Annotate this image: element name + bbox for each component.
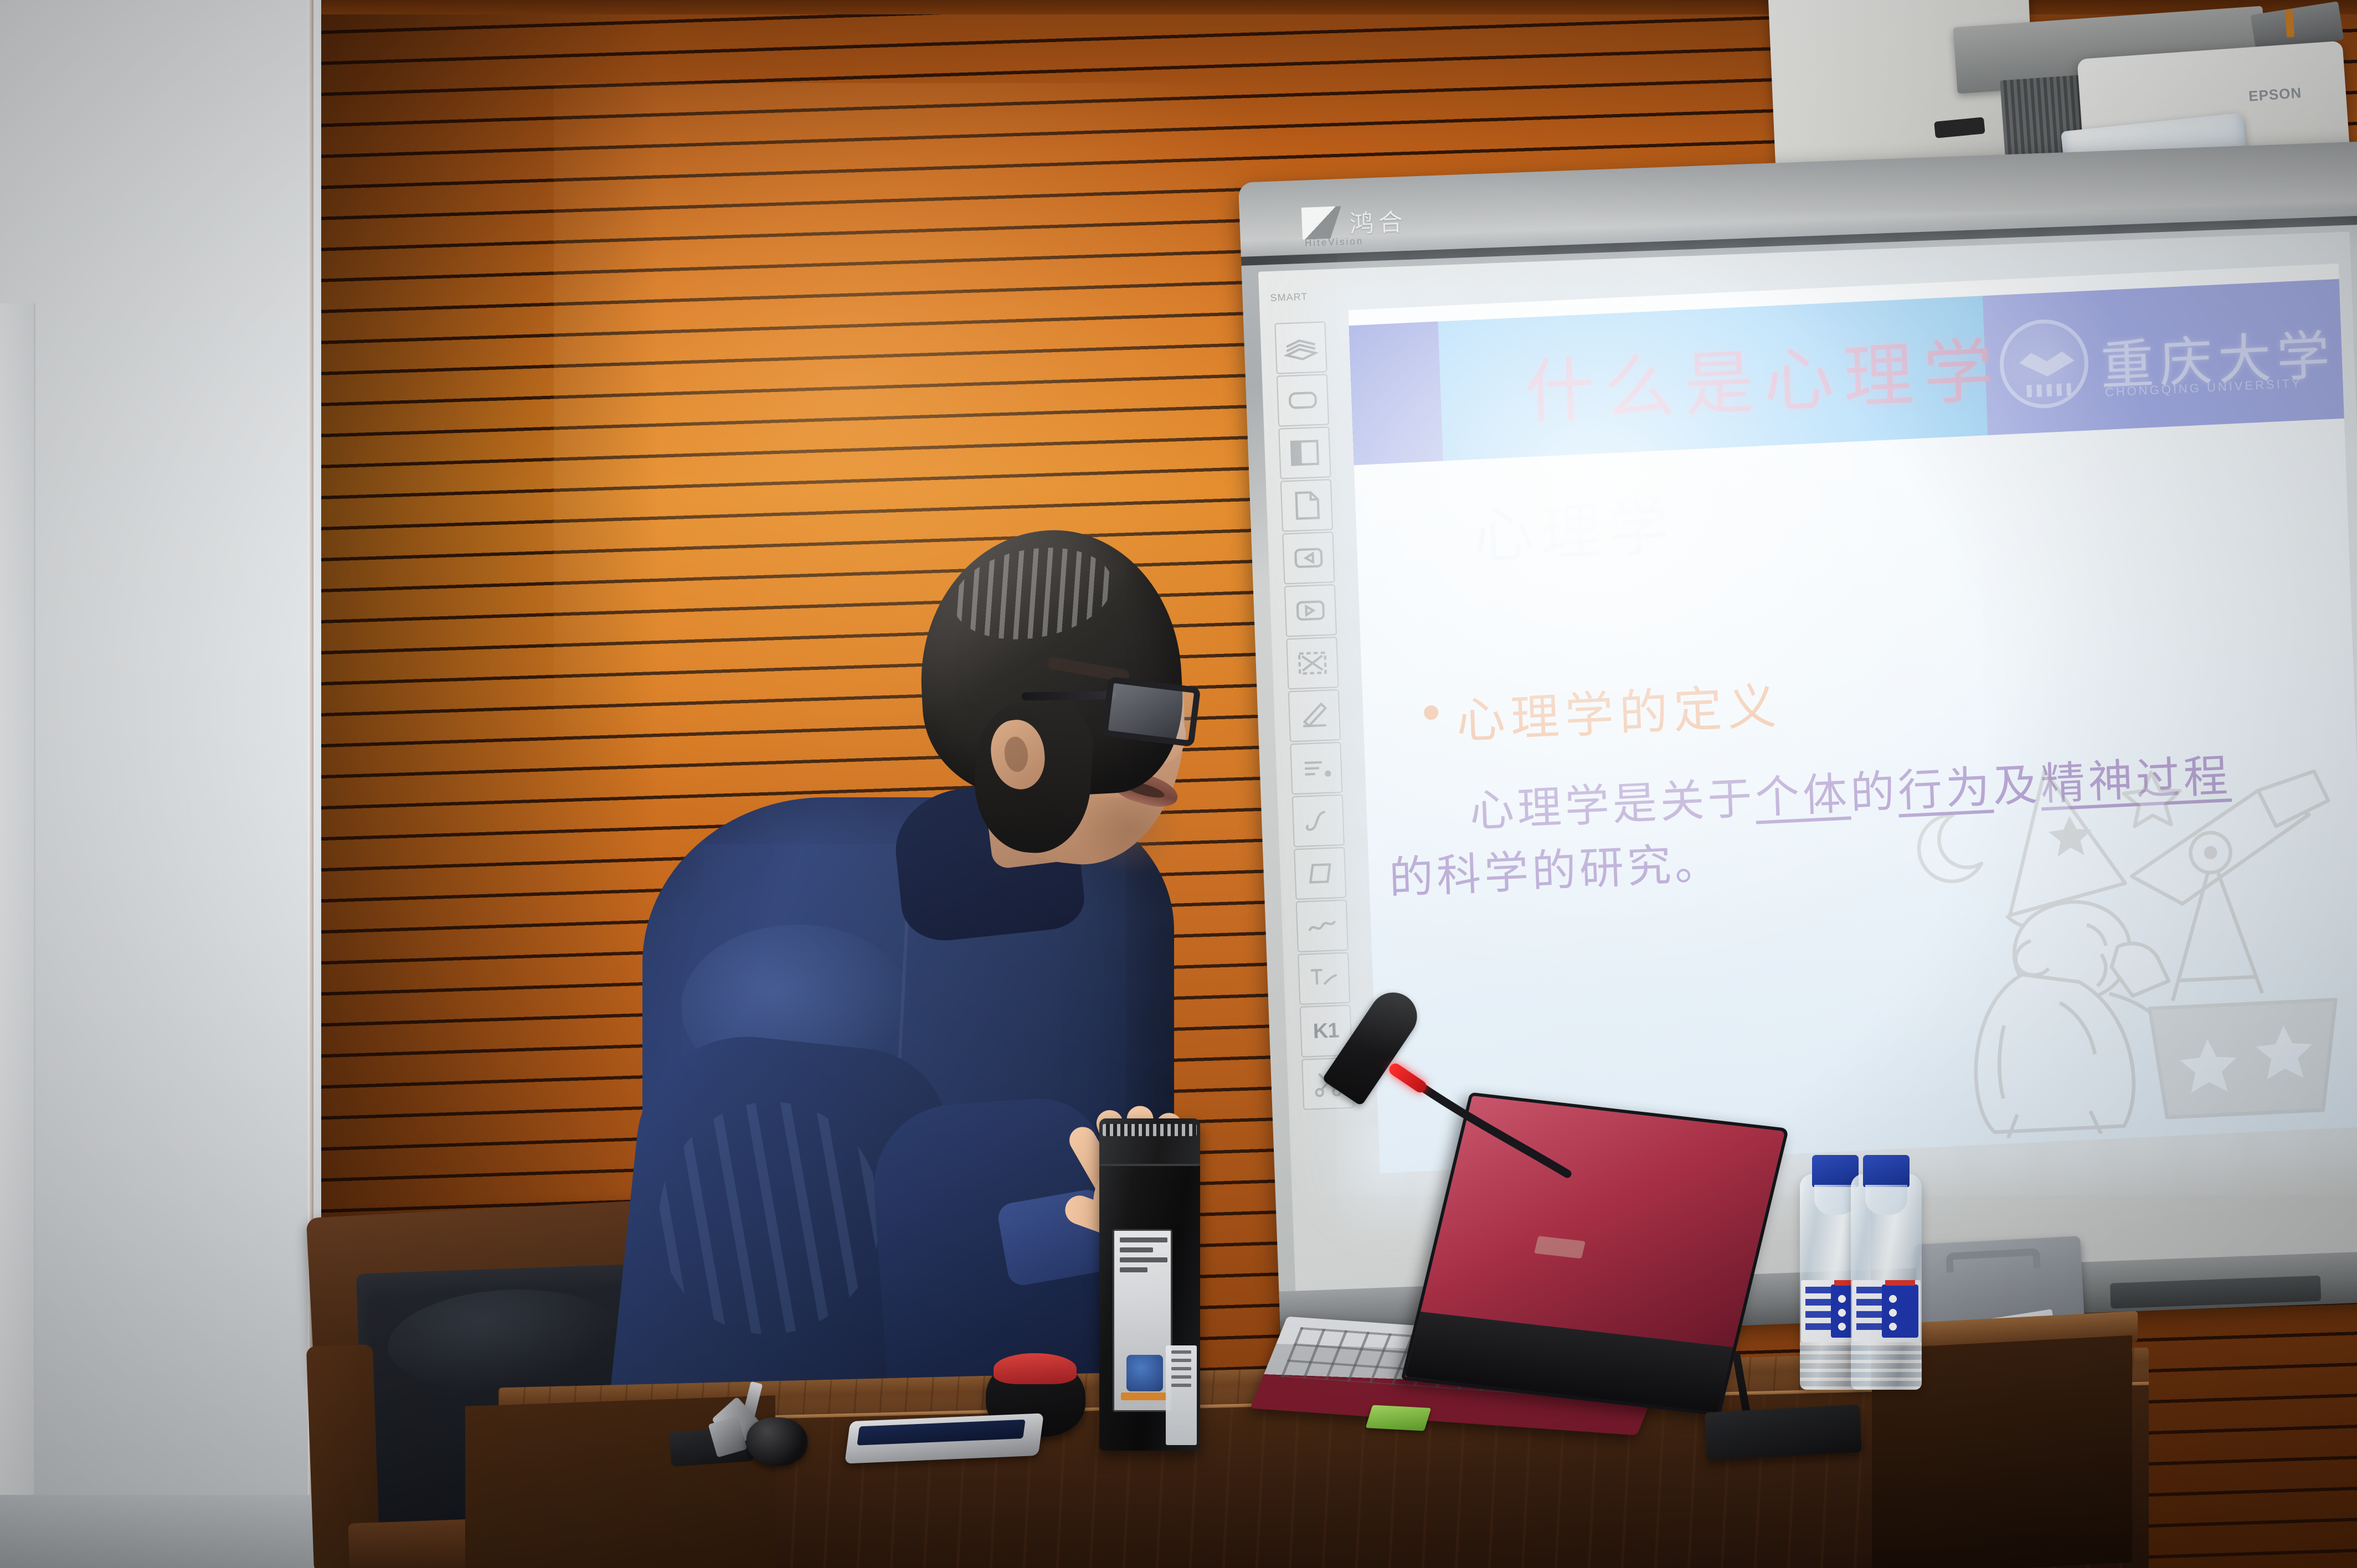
bottle-label-dots-2: [1887, 1294, 1898, 1331]
lecture-hall-photo: EPSON 鸿合 HiteVision SMART: [0, 0, 2357, 1568]
smartphone-screen[interactable]: [857, 1420, 1025, 1446]
thermos-sticker: [1166, 1345, 1197, 1445]
shape-icon[interactable]: [1294, 847, 1346, 900]
smartphone[interactable]: [845, 1413, 1044, 1463]
page-icon[interactable]: [1280, 479, 1333, 532]
bottle-ribs-2: [1851, 1342, 1922, 1390]
glasses-temple-arm: [1022, 691, 1116, 701]
whiteboard-brand-sub: HiteVision: [1305, 236, 1364, 249]
usb-flash-drive: [1366, 1405, 1432, 1431]
bottle-label-cn-text-1: [1805, 1287, 1831, 1331]
white-wall-column: [0, 0, 321, 1568]
bottle-label-2: [1852, 1280, 1921, 1342]
bottle-neck-2: [1865, 1185, 1907, 1215]
glasses-lens: [1101, 677, 1201, 747]
water-bottle-2[interactable]: [1851, 1174, 1922, 1390]
bottle-neck-1: [1814, 1185, 1856, 1215]
white-wall-panel: [0, 303, 35, 1568]
whiteboard-brand: 鸿合: [1301, 202, 1408, 241]
slide-body-line-2: 的科学的研究。: [1388, 839, 1723, 903]
slide-ghost-text: 心理学: [1471, 478, 1676, 576]
whiteboard-brand-text: 鸿合: [1349, 202, 1408, 240]
mouse-top-shell: [994, 1353, 1077, 1384]
books-icon[interactable]: [1274, 321, 1327, 374]
wizard-telescope-clipart: [1905, 740, 2350, 1142]
body-underline-1: 个体: [1754, 770, 1851, 823]
whiteboard-tray-slot: [2110, 1276, 2321, 1309]
slide-title-banner: 什么是心理学 重庆大学 CHONGQING UNIVERSITY: [1349, 279, 2344, 465]
thermos-tumbler[interactable]: [1099, 1118, 1200, 1451]
seal-emblem-icon: [1998, 317, 2090, 410]
whiteboard-brand-mark-icon: [1301, 206, 1342, 240]
bottle-label-accent-2: [1885, 1280, 1915, 1286]
face-shadow: [1074, 797, 1185, 875]
slide-bullet-item: 心理学的定义: [1423, 667, 1783, 754]
presenter-head: [908, 537, 1185, 891]
thermos-cap-knurl: [1103, 1124, 1197, 1136]
university-seal-icon: 重庆大学 CHONGQING UNIVERSITY: [1998, 287, 2334, 429]
slide-bullet-label: 心理学的定义: [1455, 667, 1783, 752]
rounded-rect-icon[interactable]: [1277, 374, 1329, 426]
bottle-label-cn-text-2: [1856, 1287, 1882, 1331]
water-bottles[interactable]: [1800, 1157, 1977, 1390]
thermos-label-lines: [1120, 1237, 1167, 1272]
thermos-cap[interactable]: [1099, 1118, 1200, 1166]
bullet-dot-icon: [1424, 705, 1439, 720]
squiggle-icon[interactable]: [1296, 900, 1349, 952]
thermos-logo-icon: [1126, 1355, 1163, 1391]
key-fob: [747, 1417, 807, 1466]
thermos-logo-bar: [1121, 1392, 1169, 1400]
body-mid-1: 的: [1850, 767, 1899, 818]
gooseneck-microphone[interactable]: [1329, 974, 1617, 1251]
window-icon[interactable]: [1278, 426, 1331, 479]
thermos-label: [1113, 1229, 1172, 1412]
projector-plate-slot: [1934, 117, 1985, 138]
whiteboard-corner-label: SMART: [1270, 291, 1308, 304]
car-keys[interactable]: [698, 1395, 831, 1467]
bottle-label-dots-1: [1836, 1294, 1847, 1331]
bottle-cap-2[interactable]: [1863, 1155, 1910, 1187]
body-prefix: 心理学是关于: [1469, 775, 1756, 837]
power-adapter: [1705, 1405, 1862, 1461]
